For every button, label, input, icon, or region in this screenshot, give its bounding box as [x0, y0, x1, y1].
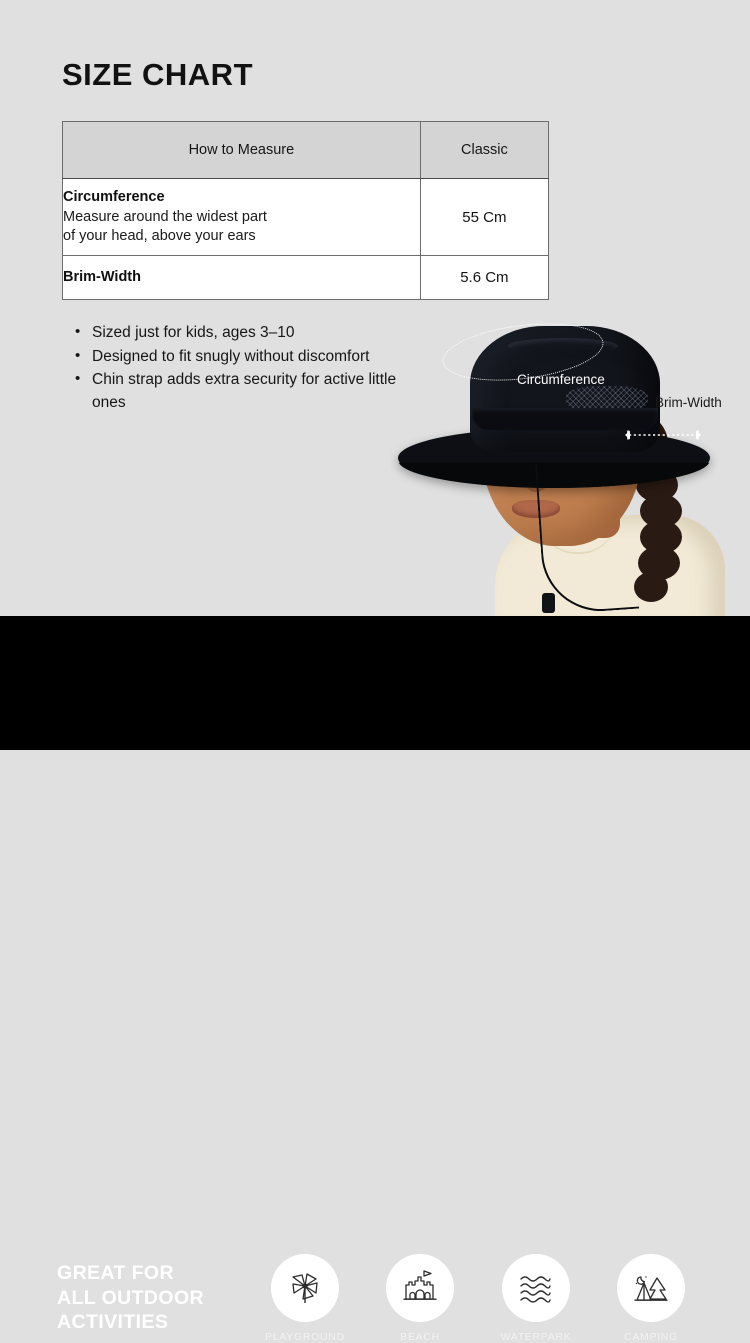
sandcastle-icon — [398, 1266, 442, 1310]
activity-icon-badge — [271, 1254, 339, 1322]
activity-label: CAMPING — [601, 1331, 701, 1343]
activity-label: BEACH — [370, 1331, 470, 1343]
hat-band — [472, 408, 658, 430]
activity-waterpark: WATERPARK — [486, 1254, 586, 1343]
cell-measure-brim-width: Brim-Width — [63, 256, 421, 300]
pinwheel-icon — [283, 1266, 327, 1310]
tent-icon — [629, 1266, 673, 1310]
activity-label: WATERPARK — [486, 1331, 586, 1343]
cell-value-brim-width: 5.6 Cm — [420, 256, 548, 300]
measure-desc-line-2: of your head, above your ears — [63, 227, 420, 246]
banner-heading-line-1: GREAT FOR — [57, 1261, 204, 1286]
banner-heading-line-3: ACTIVITIES — [57, 1310, 204, 1335]
activity-icon-badge — [386, 1254, 454, 1322]
feature-list: Sized just for kids, ages 3–10 Designed … — [70, 322, 430, 415]
measure-title: Brim-Width — [63, 268, 420, 288]
size-chart-page: SIZE CHART How to Measure Classic Circum… — [0, 0, 750, 750]
cell-value-circumference: 55 Cm — [420, 179, 548, 256]
list-item: Designed to fit snugly without discomfor… — [70, 346, 430, 369]
measure-desc-line-1: Measure around the widest part — [63, 208, 420, 227]
page-title: SIZE CHART — [62, 58, 253, 92]
cell-measure-circumference: Circumference Measure around the widest … — [63, 179, 421, 256]
list-item: Sized just for kids, ages 3–10 — [70, 322, 430, 345]
list-item: Chin strap adds extra security for activ… — [70, 369, 430, 414]
brim-width-arrow-icon — [624, 429, 702, 441]
activity-camping: CAMPING — [601, 1254, 701, 1343]
column-header-classic: Classic — [420, 122, 548, 179]
column-header-how-to-measure: How to Measure — [63, 122, 421, 179]
chin-strap-toggle — [542, 593, 555, 613]
activity-label: PLAYGROUND — [255, 1331, 355, 1343]
measure-title: Circumference — [63, 188, 420, 208]
activity-playground: PLAYGROUND — [255, 1254, 355, 1343]
circumference-label: Circumference — [517, 372, 605, 387]
brim-width-label: Brim-Width — [655, 395, 722, 410]
waves-icon — [514, 1266, 558, 1310]
banner-heading: GREAT FOR ALL OUTDOOR ACTIVITIES — [57, 1261, 204, 1335]
table-header-row: How to Measure Classic — [63, 122, 549, 179]
activity-icon-badge — [502, 1254, 570, 1322]
activity-beach: BEACH — [370, 1254, 470, 1343]
banner-heading-line-2: ALL OUTDOOR — [57, 1286, 204, 1311]
table-row: Brim-Width 5.6 Cm — [63, 256, 549, 300]
table-row: Circumference Measure around the widest … — [63, 179, 549, 256]
photo-illustration — [390, 300, 750, 616]
product-photo — [390, 300, 750, 616]
activity-icon-badge — [617, 1254, 685, 1322]
size-chart-table: How to Measure Classic Circumference Mea… — [62, 121, 549, 300]
hat-crease — [508, 338, 618, 354]
outdoor-activities-banner: GREAT FOR ALL OUTDOOR ACTIVITIES — [0, 616, 750, 750]
